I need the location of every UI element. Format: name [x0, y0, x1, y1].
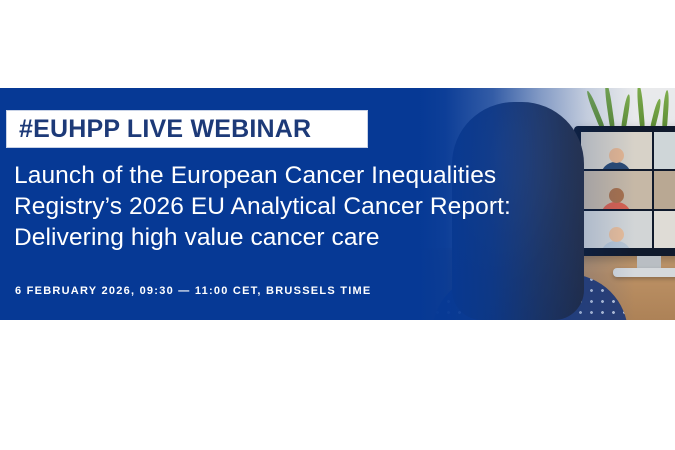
webinar-badge: #EUHPP LIVE WEBINAR — [6, 110, 368, 148]
webinar-datetime: 6 FEBRUARY 2026, 09:30 — 11:00 CET, BRUS… — [15, 285, 372, 297]
webinar-badge-label: #EUHPP LIVE WEBINAR — [7, 115, 311, 144]
webinar-title-line-3: Delivering high value cancer care — [14, 222, 559, 253]
webinar-title-line-1: Launch of the European Cancer Inequaliti… — [14, 160, 559, 191]
webinar-banner: #EUHPP LIVE WEBINAR Launch of the Europe… — [0, 88, 675, 320]
webinar-title: Launch of the European Cancer Inequaliti… — [14, 160, 559, 253]
webinar-title-line-2: Registry’s 2026 EU Analytical Cancer Rep… — [14, 191, 559, 222]
page-root: #EUHPP LIVE WEBINAR Launch of the Europe… — [0, 0, 675, 450]
